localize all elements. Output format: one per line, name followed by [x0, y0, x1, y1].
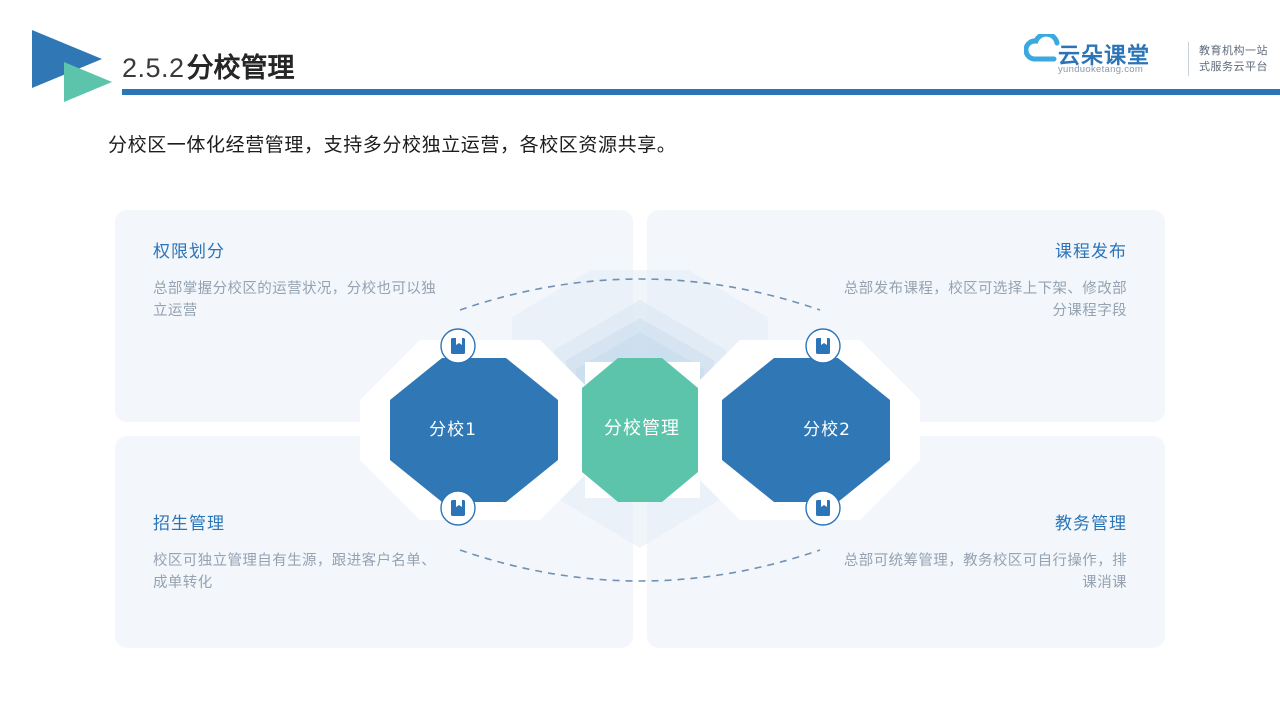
panel-title: 招生管理 [153, 509, 225, 534]
book-icon [816, 338, 830, 354]
arc-bottom [460, 550, 820, 581]
book-icon [816, 500, 830, 516]
panel-title: 课程发布 [1055, 237, 1127, 262]
panel-title: 权限划分 [153, 237, 225, 262]
connector-bottom-right [806, 491, 840, 525]
book-icon [451, 338, 465, 354]
connector-top-left [441, 329, 475, 363]
panel-title: 教务管理 [1055, 509, 1127, 534]
node-label-center: 分校管理 [577, 414, 707, 440]
node-label-branch2: 分校2 [772, 415, 882, 440]
book-icon [451, 500, 465, 516]
connector-top-right [806, 329, 840, 363]
node-label-branch1: 分校1 [398, 415, 508, 440]
connector-bottom-left [441, 491, 475, 525]
